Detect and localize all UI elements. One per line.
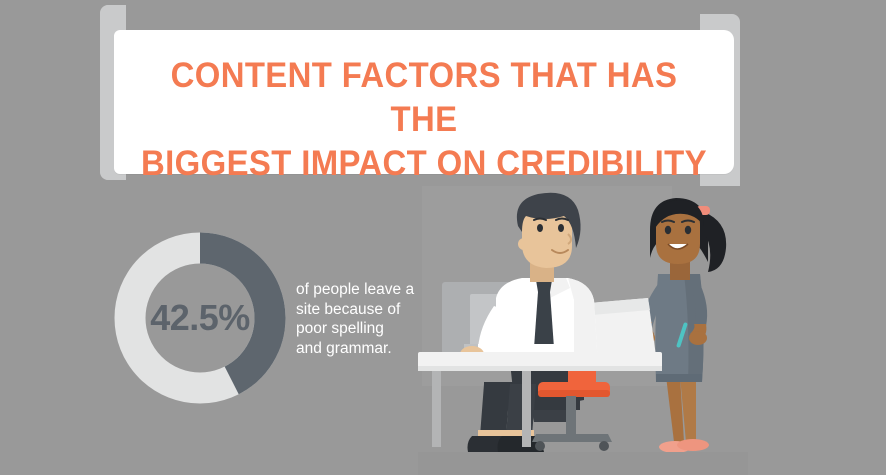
banner-card: CONTENT FACTORS THAT HAS THE BIGGEST IMP… [114, 30, 734, 174]
man-eye-left [537, 224, 543, 232]
woman-shoe-right [677, 439, 709, 451]
woman-hand-right [689, 331, 707, 345]
man-shin-2 [506, 384, 536, 436]
desk-leg-left [432, 371, 441, 447]
man-shin [480, 384, 510, 436]
desk-top [418, 352, 662, 368]
woman-dress-hem [656, 374, 702, 382]
donut-chart: 42.5% [113, 231, 287, 405]
woman-eye-left [665, 226, 671, 234]
floor-line [418, 452, 748, 475]
woman-eye-right [685, 226, 691, 234]
chair-base [532, 434, 612, 442]
chair-caster-left [535, 441, 545, 451]
page-title: CONTENT FACTORS THAT HAS THE BIGGEST IMP… [133, 54, 716, 186]
chair-caster-right [599, 441, 609, 451]
desk-leg-right [522, 371, 531, 447]
chair-seat-shadow [538, 390, 610, 397]
donut-center-value: 42.5% [113, 231, 287, 405]
man-eye-right [558, 224, 564, 232]
office-illustration [418, 186, 748, 475]
chair-post [566, 396, 576, 434]
infographic-canvas: CONTENT FACTORS THAT HAS THE BIGGEST IMP… [0, 0, 886, 475]
desk-top-edge [418, 366, 662, 371]
